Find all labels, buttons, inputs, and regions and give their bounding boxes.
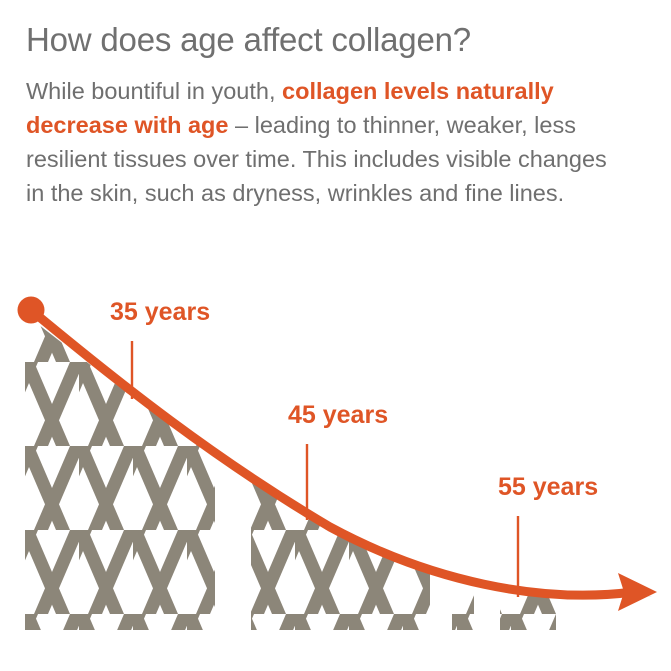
collagen-mesh [25, 278, 671, 630]
body-segment-1: While bountiful in youth, [26, 78, 282, 104]
intro-text-block: How does age affect collagen? While boun… [26, 20, 636, 210]
body-paragraph: While bountiful in youth, collagen level… [26, 74, 611, 210]
curve-start-dot [18, 297, 45, 324]
annotation-label-55-years: 55 years [498, 473, 598, 501]
collagen-mesh-fill [25, 278, 652, 630]
chart-svg: 35 years 45 years 55 years [0, 278, 671, 671]
annotation-label-35-years: 35 years [110, 298, 210, 326]
collagen-infographic: How does age affect collagen? While boun… [0, 0, 671, 671]
mesh-gap-4 [556, 278, 671, 630]
mesh-gap-3 [474, 278, 500, 630]
collagen-decline-chart: 35 years 45 years 55 years [0, 278, 671, 671]
annotation-label-45-years: 45 years [288, 401, 388, 429]
page-title: How does age affect collagen? [26, 20, 636, 60]
